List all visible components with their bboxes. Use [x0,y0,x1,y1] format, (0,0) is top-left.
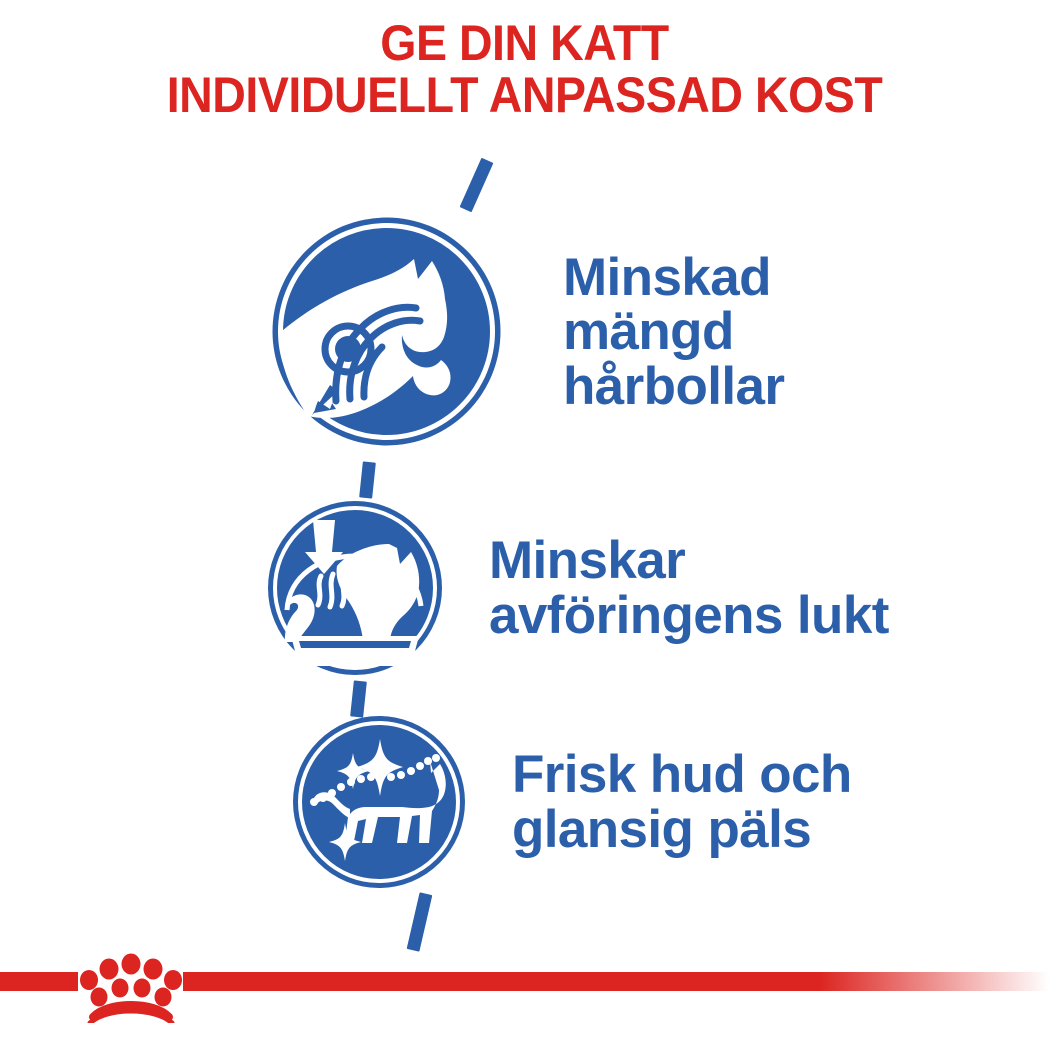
benefit-label-line: Minskad [563,251,784,306]
royal-canin-crown-logo [76,945,186,1023]
benefit-list: Minskad mängd hårbollar [0,0,1049,1049]
cat-hairball-icon [268,213,505,450]
cat-shiny-coat-icon [290,713,468,891]
benefit-label-line: glansig päls [512,803,852,858]
benefit-label-hairball: Minskad mängd hårbollar [563,251,784,415]
benefit-label-odor: Minskar avföringens lukt [489,534,889,643]
benefit-label-line: hårbollar [563,360,784,415]
benefit-item-coat: Frisk hud och glansig päls [290,713,852,891]
benefit-label-line: Frisk hud och [512,748,852,803]
benefit-item-hairball: Minskad mängd hårbollar [268,213,784,450]
benefit-label-line: mängd [563,305,784,360]
page-root: GE DIN KATT INDIVIDUELLT ANPASSAD KOST [0,0,1049,1049]
benefit-item-odor: Minskar avföringens lukt [265,498,889,678]
cat-litterbox-odor-icon [265,498,445,678]
benefit-label-coat: Frisk hud och glansig päls [512,748,852,857]
benefit-label-line: avföringens lukt [489,589,889,644]
benefit-label-line: Minskar [489,534,889,589]
